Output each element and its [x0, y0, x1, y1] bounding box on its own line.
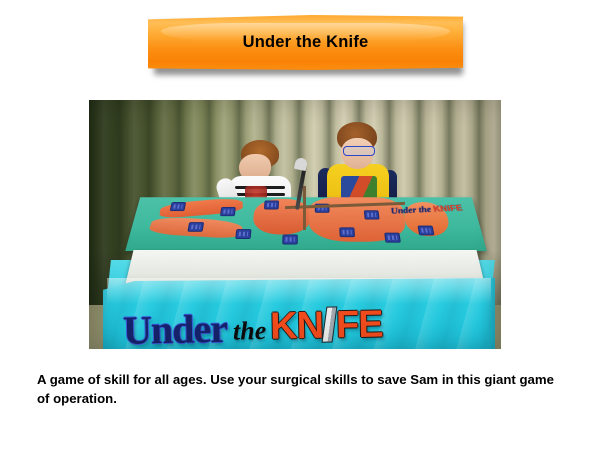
eyeglasses	[343, 146, 375, 156]
board-logo-word-1: Under	[390, 206, 417, 216]
board-cavity	[339, 227, 355, 237]
page-title: Under the Knife	[148, 15, 463, 70]
tool-support-post	[303, 186, 306, 230]
board-cavity	[282, 234, 298, 244]
product-photo: Under the KNIFE Under the KNFE	[89, 100, 501, 349]
knife-letters-fe: FE	[336, 303, 383, 346]
knife-letters-kn: KN	[270, 304, 324, 347]
board-cavity	[187, 222, 204, 232]
board-logo: Under the KNIFE	[388, 204, 472, 237]
board-cavity	[170, 202, 187, 211]
title-banner: Under the Knife	[148, 15, 463, 75]
board-logo-word-3: KNIFE	[432, 204, 464, 214]
tablecloth-logo-word-knife: KNFE	[270, 303, 383, 348]
board-cavity	[264, 200, 279, 209]
board-cavity	[220, 207, 236, 216]
tablecloth-logo-word-the: the	[233, 316, 267, 347]
board-cavity	[364, 210, 380, 219]
tablecloth-logo-word-under: Under	[123, 304, 228, 349]
board-cavity	[235, 229, 251, 239]
board-logo-word-2: the	[418, 205, 433, 215]
tablecloth-logo: Under the KNFE	[122, 292, 495, 349]
caption-text: A game of skill for all ages. Use your s…	[37, 370, 557, 408]
